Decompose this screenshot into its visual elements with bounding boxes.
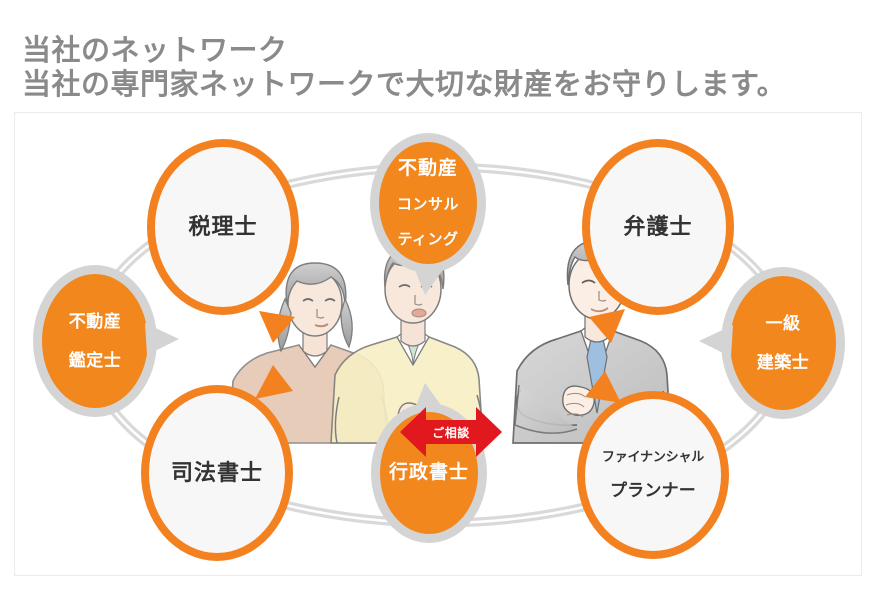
diagram-panel: ご相談 税理士 不動産 コンサル ティング 弁護士 (14, 112, 862, 576)
node-lawyer-tail (585, 307, 627, 345)
node-first-class-architect-tail (697, 323, 735, 359)
node-financial-planner[interactable]: ファイナンシャル プランナー (577, 391, 729, 559)
node-real-estate-consulting-label: 不動産 コンサル ティング (397, 140, 459, 266)
double-arrow-icon (400, 401, 502, 463)
node-financial-planner-label: ファイナンシャル プランナー (602, 435, 704, 516)
node-real-estate-appraiser[interactable]: 不動産 鑑定士 (33, 265, 157, 417)
node-financial-planner-tail (581, 369, 623, 407)
network-diagram-page: 当社のネットワーク 当社の専門家ネットワークで大切な財産をお守りします。 (0, 0, 876, 595)
node-judicial-scrivener[interactable]: 司法書士 (141, 385, 293, 561)
node-real-estate-appraiser-label: 不動産 鑑定士 (69, 293, 122, 388)
node-first-class-architect[interactable]: 一級 建築士 (721, 267, 845, 419)
node-first-class-architect-label: 一級 建築士 (757, 295, 810, 390)
node-judicial-scrivener-tail (253, 363, 295, 401)
node-tax-accountant-label: 税理士 (188, 215, 257, 240)
node-real-estate-appraiser-tail (143, 321, 181, 357)
node-lawyer[interactable]: 弁護士 (582, 139, 734, 315)
consult-arrow: ご相談 (400, 401, 502, 463)
node-judicial-scrivener-label: 司法書士 (171, 461, 263, 486)
page-title-line-1: 当社のネットワーク (22, 34, 862, 68)
node-lawyer-label: 弁護士 (623, 215, 692, 240)
node-tax-accountant-tail (257, 309, 297, 345)
node-tax-accountant[interactable]: 税理士 (147, 139, 299, 315)
node-administrative-scrivener-label: 行政書士 (389, 462, 469, 483)
page-title-block: 当社のネットワーク 当社の専門家ネットワークで大切な財産をお守りします。 (22, 34, 862, 102)
page-title-line-2: 当社の専門家ネットワークで大切な財産をお守りします。 (22, 68, 862, 102)
node-real-estate-consulting[interactable]: 不動産 コンサル ティング (370, 133, 486, 273)
